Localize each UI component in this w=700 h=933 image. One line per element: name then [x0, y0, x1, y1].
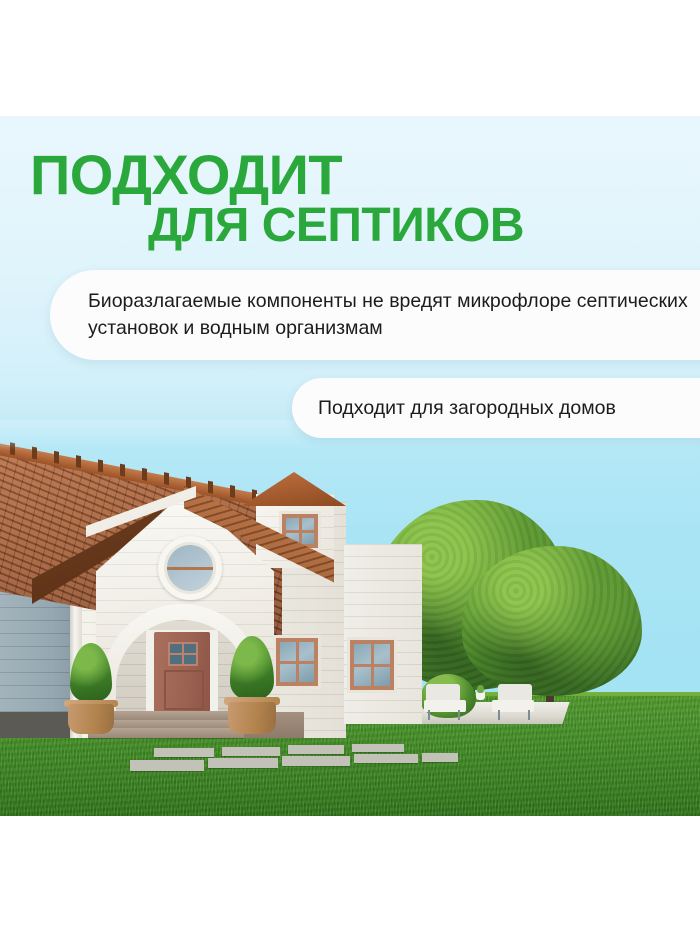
patio-chair-right — [492, 684, 536, 720]
topiary-left — [68, 646, 114, 734]
topiary-foliage — [70, 643, 112, 703]
walk-slab — [222, 747, 280, 756]
walk-slab — [354, 754, 418, 763]
walk-slab — [282, 756, 350, 766]
front-door[interactable] — [154, 632, 210, 714]
stone-walkway — [130, 742, 450, 778]
headline-block: ПОДХОДИТ ДЛЯ СЕПТИКОВ — [0, 150, 700, 248]
patio-planter — [476, 684, 485, 700]
door-window — [168, 642, 198, 666]
top-white-band — [0, 0, 700, 116]
pot — [68, 704, 114, 734]
topiary-foliage — [230, 636, 274, 700]
round-gable-window — [158, 536, 222, 600]
walk-slab — [422, 753, 458, 762]
walk-slab — [208, 758, 278, 768]
chair-leg — [528, 710, 530, 720]
front-window-right — [350, 640, 394, 690]
feature-bubble-country-house: Подходит для загородных домов — [292, 378, 700, 438]
porch-step-1 — [100, 711, 236, 720]
promo-poster: ПОДХОДИТ ДЛЯ СЕПТИКОВ Биоразлагаемые ком… — [0, 0, 700, 933]
feature-bubble-text: Подходит для загородных домов — [318, 395, 616, 422]
chair-leg — [428, 710, 430, 720]
planter-pot — [476, 692, 485, 700]
feature-bubble-biodegradable: Биоразлагаемые компоненты не вредят микр… — [50, 270, 700, 360]
pot — [228, 702, 276, 734]
walk-slab — [130, 760, 204, 771]
walk-slab — [154, 748, 214, 757]
house-foundation — [0, 712, 78, 738]
patio-chair-left — [424, 684, 468, 720]
tree-canopy — [462, 546, 642, 696]
walk-slab — [352, 744, 404, 752]
round-window-glass — [167, 545, 213, 591]
house-scene-photo — [0, 420, 700, 816]
front-window-left — [276, 638, 318, 686]
feature-bubble-text: Биоразлагаемые компоненты не вредят микр… — [88, 288, 700, 342]
walk-slab — [288, 745, 344, 754]
topiary-right — [228, 640, 276, 734]
door-panel — [164, 670, 204, 710]
house — [0, 438, 422, 738]
bottom-white-band — [0, 816, 700, 933]
patio-table — [474, 698, 494, 720]
chair-leg — [458, 710, 460, 720]
planter-plant — [477, 685, 484, 693]
headline-line-1: ПОДХОДИТ — [0, 150, 700, 200]
house-right-wall — [344, 544, 422, 724]
headline-line-2: ДЛЯ СЕПТИКОВ — [0, 200, 700, 248]
chair-leg — [498, 710, 500, 720]
